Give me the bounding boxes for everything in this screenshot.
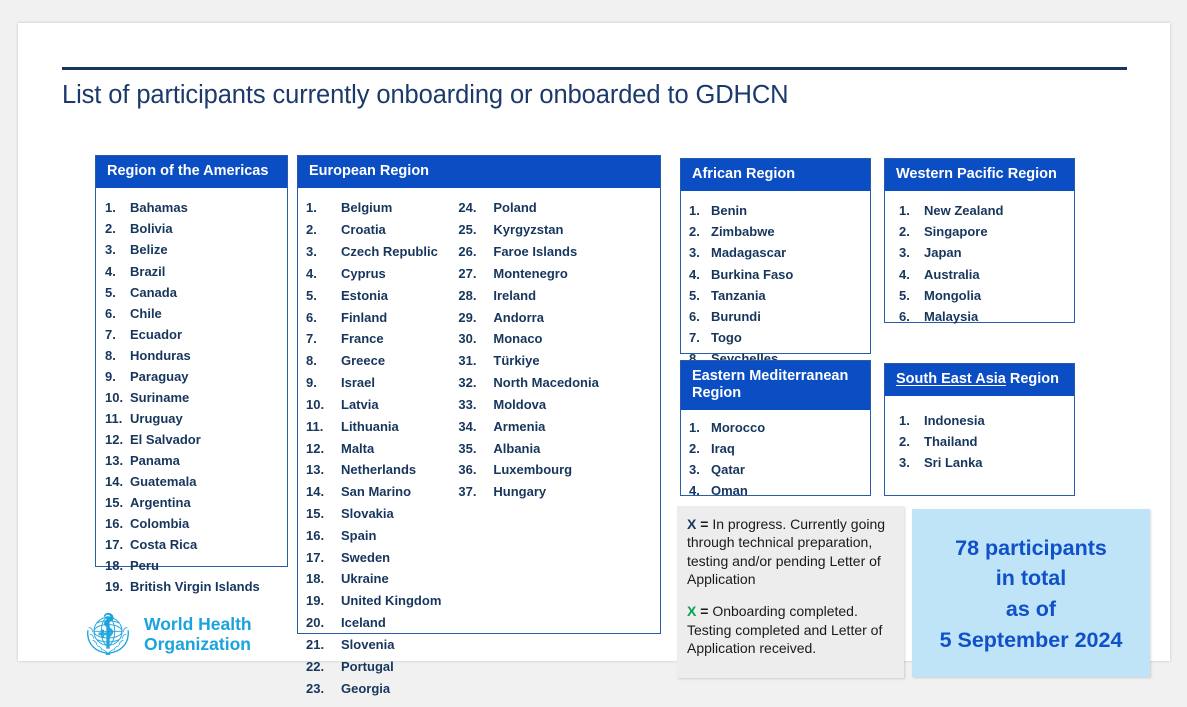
slide-card: List of participants currently onboardin…	[18, 23, 1170, 661]
list-item: 3.Qatar	[689, 459, 870, 480]
list-item-number: 15.	[306, 503, 341, 525]
list-item-country: Luxembourg	[493, 459, 572, 481]
legend-in-progress-text: In progress. Currently going through tec…	[687, 516, 885, 587]
list-item: 30.Monaco	[458, 328, 598, 350]
list-item-country: Panama	[130, 450, 180, 471]
list-item-country: Costa Rica	[130, 534, 197, 555]
list-item: 34.Armenia	[458, 416, 598, 438]
who-logo-text: World Health Organization	[144, 615, 252, 654]
list-item-number: 35.	[458, 438, 493, 460]
list-item-country: Moldova	[493, 394, 546, 416]
list-item: 26.Faroe Islands	[458, 241, 598, 263]
list-item: 3.Japan	[899, 242, 1074, 263]
list-item-number: 6.	[306, 307, 341, 329]
list-item-number: 4.	[899, 264, 924, 285]
list-item-number: 28.	[458, 285, 493, 307]
list-item-country: Australia	[924, 264, 980, 285]
list-item-country: Estonia	[341, 285, 388, 307]
region-body-europe: 1.Belgium2.Croatia3.Czech Republic4.Cypr…	[298, 188, 660, 707]
total-line-3: as of	[1006, 594, 1056, 625]
list-item-country: France	[341, 328, 384, 350]
region-body-americas: 1.Bahamas2.Bolivia3.Belize4.Brazil5.Cana…	[96, 188, 287, 605]
list-item-country: Oman	[711, 480, 748, 501]
list-item-number: 7.	[689, 327, 711, 348]
total-participants-box: 78 participants in total as of 5 Septemb…	[912, 509, 1150, 677]
list-item-number: 3.	[306, 241, 341, 263]
country-list-europe-column-1: 1.Belgium2.Croatia3.Czech Republic4.Cypr…	[306, 197, 441, 699]
legend-completed-text: Onboarding completed. Testing completed …	[687, 603, 882, 656]
list-item: 16.Spain	[306, 525, 441, 547]
list-item: 19.British Virgin Islands	[105, 576, 287, 597]
list-item-country: Georgia	[341, 678, 390, 700]
region-box-americas: Region of the Americas 1.Bahamas2.Bolivi…	[95, 155, 288, 567]
list-item-number: 1.	[899, 200, 924, 221]
region-body-south-east-asia: 1.Indonesia2.Thailand3.Sri Lanka	[885, 396, 1074, 481]
list-item-country: Slovakia	[341, 503, 394, 525]
list-item: 19.United Kingdom	[306, 590, 441, 612]
list-item: 8.Honduras	[105, 345, 287, 366]
list-item: 2.Zimbabwe	[689, 221, 870, 242]
legend-in-progress: X = In progress. Currently going through…	[687, 515, 892, 588]
list-item-country: El Salvador	[130, 429, 201, 450]
list-item: 24.Poland	[458, 197, 598, 219]
list-item-country: Finland	[341, 307, 387, 329]
list-item-country: Sri Lanka	[924, 452, 983, 473]
list-item-country: Poland	[493, 197, 536, 219]
list-item: 4.Cyprus	[306, 263, 441, 285]
list-item-country: Singapore	[924, 221, 988, 242]
list-item-country: Brazil	[130, 261, 165, 282]
list-item-country: Malaysia	[924, 306, 978, 327]
list-item: 12.Malta	[306, 438, 441, 460]
list-item-country: Peru	[130, 555, 159, 576]
list-item: 1.New Zealand	[899, 200, 1074, 221]
list-item-number: 5.	[105, 282, 130, 303]
list-item-country: Ecuador	[130, 324, 182, 345]
region-header-line-2: Region	[692, 385, 859, 402]
region-header-african: African Region	[681, 159, 870, 191]
list-item: 2.Singapore	[899, 221, 1074, 242]
list-item: 18.Peru	[105, 555, 287, 576]
region-header-eastern-mediterranean: Eastern Mediterranean Region	[681, 361, 870, 410]
list-item: 7.France	[306, 328, 441, 350]
list-item-number: 36.	[458, 459, 493, 481]
list-item: 27.Montenegro	[458, 263, 598, 285]
list-item-country: Czech Republic	[341, 241, 438, 263]
list-item: 17.Costa Rica	[105, 534, 287, 555]
list-item-number: 2.	[689, 221, 711, 242]
list-item-number: 32.	[458, 372, 493, 394]
list-item: 5.Mongolia	[899, 285, 1074, 306]
region-body-western-pacific: 1.New Zealand2.Singapore3.Japan4.Austral…	[885, 191, 1074, 334]
list-item-country: United Kingdom	[341, 590, 441, 612]
list-item-country: Togo	[711, 327, 742, 348]
list-item-number: 2.	[105, 218, 130, 239]
list-item: 4.Brazil	[105, 261, 287, 282]
list-item-number: 17.	[105, 534, 130, 555]
legend-marker-in-progress: X	[687, 516, 696, 532]
list-item-number: 1.	[306, 197, 341, 219]
list-item-number: 16.	[105, 513, 130, 534]
list-item-country: Netherlands	[341, 459, 416, 481]
list-item-country: Zimbabwe	[711, 221, 775, 242]
list-item-country: Albania	[493, 438, 540, 460]
list-item: 1.Bahamas	[105, 197, 287, 218]
list-item-country: New Zealand	[924, 200, 1003, 221]
list-item-country: Guatemala	[130, 471, 196, 492]
list-item-number: 7.	[306, 328, 341, 350]
list-item-number: 9.	[306, 372, 341, 394]
title-divider	[62, 67, 1127, 70]
list-item-number: 5.	[899, 285, 924, 306]
list-item-country: Montenegro	[493, 263, 567, 285]
list-item-number: 22.	[306, 656, 341, 678]
list-item: 11.Uruguay	[105, 408, 287, 429]
list-item-country: Mongolia	[924, 285, 981, 306]
list-item: 4.Oman	[689, 480, 870, 501]
region-header-western-pacific: Western Pacific Region	[885, 159, 1074, 191]
region-header-americas: Region of the Americas	[96, 156, 287, 188]
region-box-western-pacific: Western Pacific Region 1.New Zealand2.Si…	[884, 158, 1075, 323]
list-item-country: Hungary	[493, 481, 546, 503]
list-item-number: 33.	[458, 394, 493, 416]
list-item: 25.Kyrgyzstan	[458, 219, 598, 241]
list-item-country: Canada	[130, 282, 177, 303]
list-item: 12.El Salvador	[105, 429, 287, 450]
region-box-south-east-asia: South East Asia Region 1.Indonesia2.Thai…	[884, 363, 1075, 496]
list-item-number: 2.	[689, 438, 711, 459]
list-item: 17.Sweden	[306, 547, 441, 569]
list-item-country: British Virgin Islands	[130, 576, 260, 597]
list-item: 33.Moldova	[458, 394, 598, 416]
list-item-number: 4.	[689, 264, 711, 285]
list-item-number: 12.	[306, 438, 341, 460]
list-item-country: Paraguay	[130, 366, 189, 387]
list-item-number: 37.	[458, 481, 493, 503]
region-body-african: 1.Benin2.Zimbabwe3.Madagascar4.Burkina F…	[681, 191, 870, 376]
list-item-number: 7.	[105, 324, 130, 345]
list-item-number: 2.	[899, 431, 924, 452]
list-item: 16.Colombia	[105, 513, 287, 534]
list-item: 5.Estonia	[306, 285, 441, 307]
legend-marker-completed: X	[687, 603, 696, 619]
list-item: 5.Tanzania	[689, 285, 870, 306]
list-item-number: 2.	[306, 219, 341, 241]
list-item-country: Japan	[924, 242, 962, 263]
list-item-number: 30.	[458, 328, 493, 350]
list-item: 4.Australia	[899, 264, 1074, 285]
region-header-south-east-asia: South East Asia Region	[885, 364, 1074, 396]
list-item-country: Malta	[341, 438, 374, 460]
list-item-country: Bolivia	[130, 218, 173, 239]
list-item-country: Türkiye	[493, 350, 539, 372]
list-item-number: 3.	[105, 239, 130, 260]
list-item-number: 2.	[899, 221, 924, 242]
list-item-country: Monaco	[493, 328, 542, 350]
list-item: 6.Malaysia	[899, 306, 1074, 327]
list-item-country: Iceland	[341, 612, 386, 634]
list-item: 11.Lithuania	[306, 416, 441, 438]
list-item: 6.Chile	[105, 303, 287, 324]
list-item: 8.Greece	[306, 350, 441, 372]
list-item-country: Iraq	[711, 438, 735, 459]
list-item-country: San Marino	[341, 481, 411, 503]
list-item: 14.Guatemala	[105, 471, 287, 492]
list-item-country: Ukraine	[341, 568, 389, 590]
list-item: 21.Slovenia	[306, 634, 441, 656]
list-item-number: 34.	[458, 416, 493, 438]
region-header-underlined-part: South East Asia	[896, 371, 1006, 387]
list-item-country: Honduras	[130, 345, 191, 366]
list-item-country: Armenia	[493, 416, 545, 438]
list-item-country: Tanzania	[711, 285, 766, 306]
who-logo-line-1: World Health	[144, 615, 252, 635]
list-item-number: 20.	[306, 612, 341, 634]
list-item: 3.Belize	[105, 239, 287, 260]
list-item-country: Madagascar	[711, 242, 786, 263]
list-item-country: Burkina Faso	[711, 264, 793, 285]
list-item: 7.Ecuador	[105, 324, 287, 345]
list-item-number: 29.	[458, 307, 493, 329]
list-item: 31.Türkiye	[458, 350, 598, 372]
list-item-country: Chile	[130, 303, 162, 324]
list-item-number: 18.	[105, 555, 130, 576]
list-item-number: 6.	[689, 306, 711, 327]
list-item-number: 27.	[458, 263, 493, 285]
list-item-country: Andorra	[493, 307, 544, 329]
list-item: 1.Indonesia	[899, 410, 1074, 431]
list-item-country: Uruguay	[130, 408, 183, 429]
legend-box: X = In progress. Currently going through…	[677, 506, 904, 678]
page-title: List of participants currently onboardin…	[62, 81, 1152, 110]
list-item: 6.Finland	[306, 307, 441, 329]
list-item-country: Greece	[341, 350, 385, 372]
who-logo-line-2: Organization	[144, 635, 252, 655]
list-item-country: Morocco	[711, 417, 765, 438]
list-item-number: 4.	[306, 263, 341, 285]
list-item-country: Cyprus	[341, 263, 386, 285]
list-item-country: Ireland	[493, 285, 536, 307]
who-logo: World Health Organization	[80, 606, 265, 664]
region-box-african: African Region 1.Benin2.Zimbabwe3.Madaga…	[680, 158, 871, 354]
list-item: 13.Panama	[105, 450, 287, 471]
list-item-number: 19.	[105, 576, 130, 597]
list-item-country: North Macedonia	[493, 372, 598, 394]
list-item-number: 10.	[105, 387, 130, 408]
list-item-number: 9.	[105, 366, 130, 387]
region-header-rest-part: Region	[1006, 371, 1059, 387]
list-item: 32.North Macedonia	[458, 372, 598, 394]
list-item-country: Croatia	[341, 219, 386, 241]
list-item-number: 1.	[105, 197, 130, 218]
list-item-number: 8.	[105, 345, 130, 366]
list-item: 6.Burundi	[689, 306, 870, 327]
list-item-number: 3.	[899, 452, 924, 473]
total-line-4: 5 September 2024	[940, 625, 1123, 656]
list-item-country: Thailand	[924, 431, 977, 452]
list-item: 10.Suriname	[105, 387, 287, 408]
list-item: 3.Madagascar	[689, 242, 870, 263]
list-item-country: Colombia	[130, 513, 189, 534]
country-list-south-east-asia: 1.Indonesia2.Thailand3.Sri Lanka	[899, 410, 1074, 473]
list-item-number: 6.	[899, 306, 924, 327]
list-item-number: 17.	[306, 547, 341, 569]
list-item: 1.Belgium	[306, 197, 441, 219]
list-item-country: Qatar	[711, 459, 745, 480]
list-item-country: Faroe Islands	[493, 241, 577, 263]
list-item-number: 1.	[689, 417, 711, 438]
total-line-1: 78 participants	[955, 533, 1107, 564]
list-item-number: 13.	[306, 459, 341, 481]
list-item: 9.Paraguay	[105, 366, 287, 387]
list-item-country: Lithuania	[341, 416, 399, 438]
list-item-number: 14.	[306, 481, 341, 503]
list-item-number: 4.	[689, 480, 711, 501]
list-item: 22.Portugal	[306, 656, 441, 678]
country-list-african: 1.Benin2.Zimbabwe3.Madagascar4.Burkina F…	[689, 200, 870, 368]
list-item-number: 14.	[105, 471, 130, 492]
total-line-2: in total	[996, 563, 1066, 594]
list-item-number: 18.	[306, 568, 341, 590]
list-item-number: 25.	[458, 219, 493, 241]
list-item-number: 10.	[306, 394, 341, 416]
list-item: 18.Ukraine	[306, 568, 441, 590]
list-item-country: Benin	[711, 200, 747, 221]
list-item-number: 19.	[306, 590, 341, 612]
list-item-country: Burundi	[711, 306, 761, 327]
list-item: 2.Bolivia	[105, 218, 287, 239]
list-item-number: 21.	[306, 634, 341, 656]
list-item: 9.Israel	[306, 372, 441, 394]
list-item-number: 3.	[899, 242, 924, 263]
list-item-country: Bahamas	[130, 197, 188, 218]
list-item-country: Indonesia	[924, 410, 985, 431]
list-item: 28.Ireland	[458, 285, 598, 307]
list-item: 13.Netherlands	[306, 459, 441, 481]
list-item-number: 12.	[105, 429, 130, 450]
list-item-number: 5.	[306, 285, 341, 307]
list-item-number: 24.	[458, 197, 493, 219]
list-item-country: Portugal	[341, 656, 394, 678]
list-item-number: 16.	[306, 525, 341, 547]
list-item: 1.Morocco	[689, 417, 870, 438]
list-item-number: 1.	[689, 200, 711, 221]
list-item-number: 5.	[689, 285, 711, 306]
list-item: 23.Georgia	[306, 678, 441, 700]
list-item-country: Belize	[130, 239, 168, 260]
list-item: 15.Argentina	[105, 492, 287, 513]
list-item-country: Slovenia	[341, 634, 394, 656]
region-header-europe: European Region	[298, 156, 660, 188]
list-item-number: 13.	[105, 450, 130, 471]
country-list-americas: 1.Bahamas2.Bolivia3.Belize4.Brazil5.Cana…	[105, 197, 287, 597]
list-item: 10.Latvia	[306, 394, 441, 416]
country-list-europe-column-2: 24.Poland25.Kyrgyzstan26.Faroe Islands27…	[458, 197, 598, 699]
list-item: 2.Thailand	[899, 431, 1074, 452]
list-item: 15.Slovakia	[306, 503, 441, 525]
list-item-number: 8.	[306, 350, 341, 372]
list-item-number: 1.	[899, 410, 924, 431]
list-item-country: Kyrgyzstan	[493, 219, 563, 241]
list-item-number: 31.	[458, 350, 493, 372]
list-item-number: 6.	[105, 303, 130, 324]
legend-equals-2: =	[696, 603, 712, 619]
list-item-country: Argentina	[130, 492, 191, 513]
list-item-country: Sweden	[341, 547, 390, 569]
list-item-number: 3.	[689, 459, 711, 480]
list-item: 36.Luxembourg	[458, 459, 598, 481]
list-item: 29.Andorra	[458, 307, 598, 329]
list-item: 37.Hungary	[458, 481, 598, 503]
list-item: 20.Iceland	[306, 612, 441, 634]
list-item-number: 4.	[105, 261, 130, 282]
list-item: 1.Benin	[689, 200, 870, 221]
list-item-country: Spain	[341, 525, 376, 547]
list-item: 3.Sri Lanka	[899, 452, 1074, 473]
region-box-europe: European Region 1.Belgium2.Croatia3.Czec…	[297, 155, 661, 634]
list-item: 7.Togo	[689, 327, 870, 348]
list-item: 2.Iraq	[689, 438, 870, 459]
region-box-eastern-mediterranean: Eastern Mediterranean Region 1.Morocco2.…	[680, 360, 871, 496]
list-item: 35.Albania	[458, 438, 598, 460]
list-item-number: 26.	[458, 241, 493, 263]
country-list-western-pacific: 1.New Zealand2.Singapore3.Japan4.Austral…	[899, 200, 1074, 326]
list-item-number: 15.	[105, 492, 130, 513]
list-item-number: 23.	[306, 678, 341, 700]
list-item-number: 3.	[689, 242, 711, 263]
list-item: 2.Croatia	[306, 219, 441, 241]
who-emblem-icon	[80, 605, 136, 666]
list-item-number: 11.	[306, 416, 341, 438]
list-item-number: 11.	[105, 408, 130, 429]
list-item: 5.Canada	[105, 282, 287, 303]
list-item-country: Latvia	[341, 394, 379, 416]
list-item: 14.San Marino	[306, 481, 441, 503]
list-item-country: Israel	[341, 372, 375, 394]
list-item: 4.Burkina Faso	[689, 264, 870, 285]
legend-completed: X = Onboarding completed. Testing comple…	[687, 602, 892, 657]
list-item-country: Suriname	[130, 387, 189, 408]
list-item-country: Belgium	[341, 197, 392, 219]
region-header-line-1: Eastern Mediterranean	[692, 368, 859, 385]
list-item: 3.Czech Republic	[306, 241, 441, 263]
legend-equals-1: =	[696, 516, 712, 532]
